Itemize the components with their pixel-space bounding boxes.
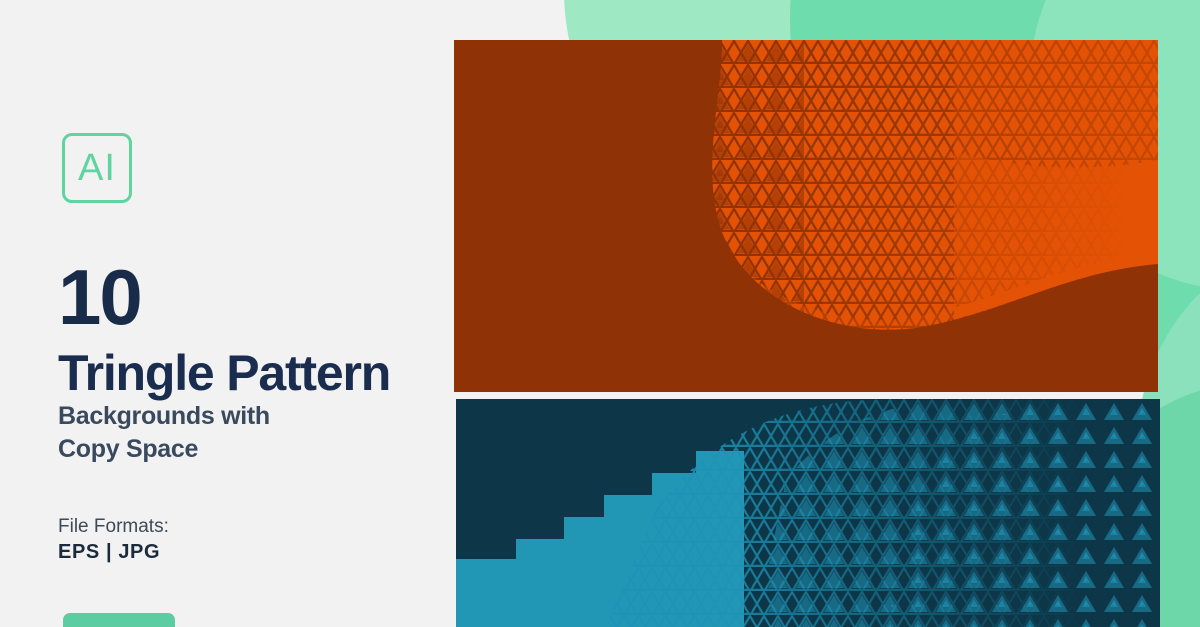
page-title: Tringle Pattern — [58, 348, 390, 399]
orange-triangle-pattern-card — [454, 40, 1158, 392]
preview-canvas: AI 10 Tringle Pattern Backgrounds with C… — [0, 0, 1200, 627]
orange-pattern-art — [454, 40, 1158, 392]
page-subtitle: Backgrounds with Copy Space — [58, 400, 270, 465]
file-formats-label: File Formats: — [58, 516, 169, 538]
cta-button[interactable] — [63, 613, 175, 627]
teal-triangle-pattern-card — [456, 399, 1160, 627]
page-title-count: 10 — [58, 262, 141, 334]
file-formats-value: EPS | JPG — [58, 541, 160, 564]
teal-pattern-art — [456, 399, 1160, 627]
info-panel: AI 10 Tringle Pattern Backgrounds with C… — [0, 0, 454, 627]
adobe-illustrator-badge: AI — [62, 133, 132, 203]
adobe-illustrator-badge-label: AI — [78, 149, 116, 187]
